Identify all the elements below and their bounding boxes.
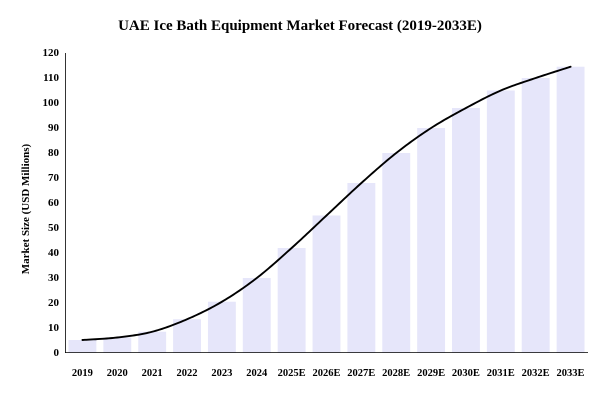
x-tick-label-2019: 2019 bbox=[72, 368, 93, 380]
bar-2026E[interactable] bbox=[313, 216, 341, 354]
x-tick-label-2029E: 2029E bbox=[417, 368, 445, 380]
bar-2031E[interactable] bbox=[487, 91, 515, 354]
bar-2032E[interactable] bbox=[522, 78, 550, 353]
bar-2019[interactable] bbox=[68, 340, 96, 353]
x-tick-label-2033E: 2033E bbox=[556, 368, 584, 380]
bar-2028E[interactable] bbox=[382, 153, 410, 353]
bar-2024[interactable] bbox=[243, 278, 271, 353]
bar-2033E[interactable] bbox=[557, 67, 585, 353]
x-tick-label-2031E: 2031E bbox=[487, 368, 515, 380]
bar-2023[interactable] bbox=[208, 302, 236, 353]
plot-svg bbox=[65, 53, 588, 353]
bar-2025E[interactable] bbox=[278, 248, 306, 353]
x-tick-label-2021: 2021 bbox=[142, 368, 163, 380]
bar-2027E[interactable] bbox=[347, 183, 375, 353]
chart-figure: UAE Ice Bath Equipment Market Forecast (… bbox=[0, 0, 600, 401]
bar-2029E[interactable] bbox=[417, 128, 445, 353]
bar-2021[interactable] bbox=[138, 332, 166, 353]
bar-2030E[interactable] bbox=[452, 108, 480, 353]
x-tick-label-2028E: 2028E bbox=[382, 368, 410, 380]
x-tick-label-2022: 2022 bbox=[177, 368, 198, 380]
bar-2020[interactable] bbox=[103, 338, 131, 354]
x-tick-label-2032E: 2032E bbox=[522, 368, 550, 380]
plot-area bbox=[65, 53, 588, 353]
x-tick-label-2027E: 2027E bbox=[347, 368, 375, 380]
x-tick-label-2025E: 2025E bbox=[278, 368, 306, 380]
x-tick-label-2020: 2020 bbox=[107, 368, 128, 380]
x-tick-label-2023: 2023 bbox=[211, 368, 232, 380]
x-tick-label-2026E: 2026E bbox=[312, 368, 340, 380]
x-tick-label-2030E: 2030E bbox=[452, 368, 480, 380]
bar-series bbox=[68, 67, 584, 353]
x-tick-label-2024: 2024 bbox=[246, 368, 267, 380]
